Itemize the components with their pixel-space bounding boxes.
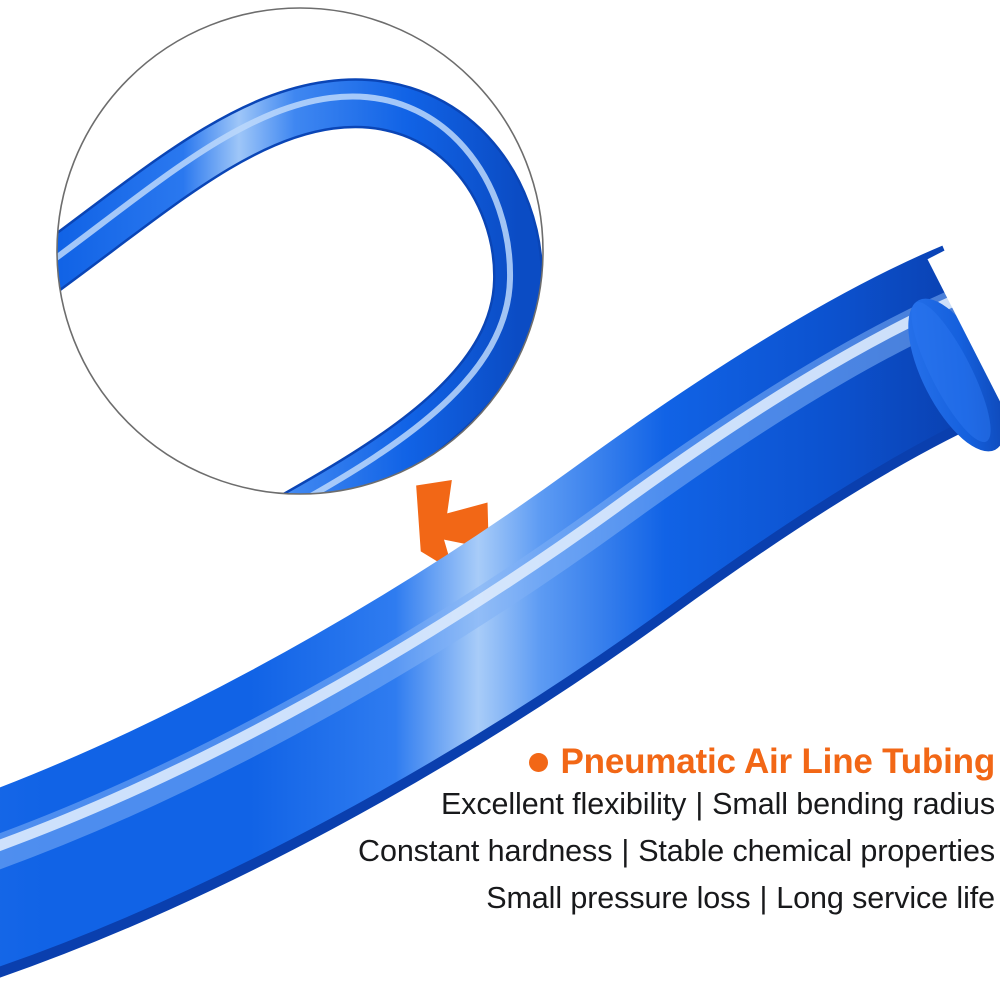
product-image: Pneumatic Air Line Tubing Excellent flex… [0,0,1000,1000]
feature-right: Long service life [776,881,995,915]
feature-left: Excellent flexibility [441,787,686,821]
feature-right: Stable chemical properties [638,834,995,868]
bullet-dot-icon [529,753,548,772]
feature-separator: | [750,881,776,915]
feature-left: Small pressure loss [486,881,750,915]
feature-line: Excellent flexibility|Small bending radi… [300,781,1000,828]
feature-left: Constant hardness [358,834,612,868]
headline-row: Pneumatic Air Line Tubing [300,742,1000,781]
feature-line: Constant hardness|Stable chemical proper… [300,828,1000,875]
magnifier-detail [0,8,543,592]
feature-line: Small pressure loss|Long service life [300,875,1000,922]
feature-right: Small bending radius [712,787,995,821]
feature-text-block: Pneumatic Air Line Tubing Excellent flex… [300,742,1000,921]
feature-separator: | [612,834,638,868]
page-title: Pneumatic Air Line Tubing [561,742,995,781]
feature-separator: | [686,787,712,821]
